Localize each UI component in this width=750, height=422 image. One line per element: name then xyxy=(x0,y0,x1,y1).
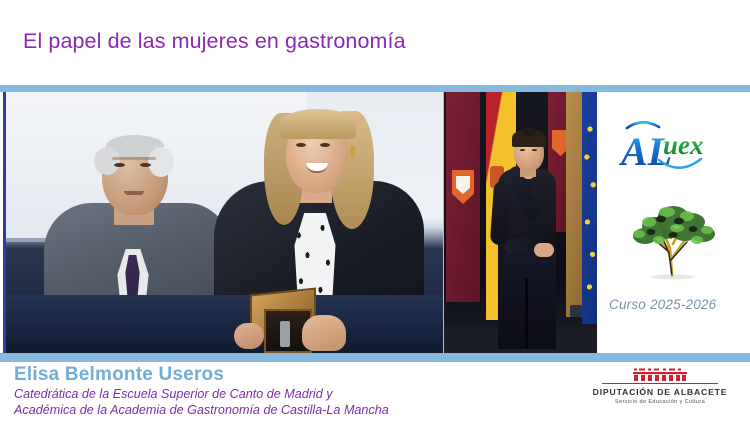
speaker-name: Elisa Belmonte Useros xyxy=(14,364,224,386)
man-mouth xyxy=(124,191,144,195)
flag-european-union xyxy=(582,92,598,324)
woman-eye-right xyxy=(320,143,330,147)
logo-divider xyxy=(602,383,718,384)
woman-hair-top xyxy=(280,109,356,139)
aluex-logo: AL uex xyxy=(597,114,750,180)
diputacion-mark-icon xyxy=(632,368,688,381)
woman-hand-right xyxy=(302,315,346,351)
interpreter-hand-resting xyxy=(534,243,554,257)
institution-name: DIPUTACIÓN DE ALBACETE xyxy=(592,387,728,397)
academic-year-label: Curso 2025-2026 xyxy=(609,297,749,312)
interpreter-hair-bun xyxy=(522,127,536,137)
wall-outlet xyxy=(570,305,582,317)
interpreter-eye-right xyxy=(532,149,537,151)
interpreter-eye-left xyxy=(520,149,525,151)
divider-bottom xyxy=(0,353,750,362)
speaker-role: Catedrática de la Escuela Superior de Ca… xyxy=(14,386,389,418)
olive-tree-illustration xyxy=(615,188,733,280)
man-hair-left xyxy=(94,147,120,175)
page-title: El papel de las mujeres en gastronomía xyxy=(23,29,406,54)
man-eye-right xyxy=(140,163,151,167)
media-band: AL uex xyxy=(0,92,750,353)
man-hair-right xyxy=(148,147,174,177)
woman-hand-left xyxy=(234,323,264,349)
branding-panel: AL uex xyxy=(597,92,750,353)
diputacion-de-albacete-logo: DIPUTACIÓN DE ALBACETE Servicio de Educa… xyxy=(592,368,728,416)
title-bar: El papel de las mujeres en gastronomía xyxy=(0,0,750,85)
sign-language-interpreter xyxy=(492,127,564,349)
man-eye-left xyxy=(114,163,125,167)
institution-department: Servicio de Educación y Cultura xyxy=(592,399,728,405)
speaker-role-line-2: Académica de la Academia de Gastronomía … xyxy=(14,402,389,418)
stage-table xyxy=(6,295,443,353)
woman-earring xyxy=(350,145,355,157)
divider-top xyxy=(0,85,750,92)
award-trophy xyxy=(280,321,290,347)
woman-eye-left xyxy=(296,143,306,147)
footer: Elisa Belmonte Useros Catedrática de la … xyxy=(0,362,750,422)
main-photo xyxy=(3,92,443,353)
speaker-role-line-1: Catedrática de la Escuela Superior de Ca… xyxy=(14,386,389,402)
side-photo-sign-interpreter xyxy=(443,92,598,353)
presentation-slide: El papel de las mujeres en gastronomía xyxy=(0,0,750,422)
svg-text:uex: uex xyxy=(663,130,704,160)
man-brow xyxy=(112,157,156,160)
